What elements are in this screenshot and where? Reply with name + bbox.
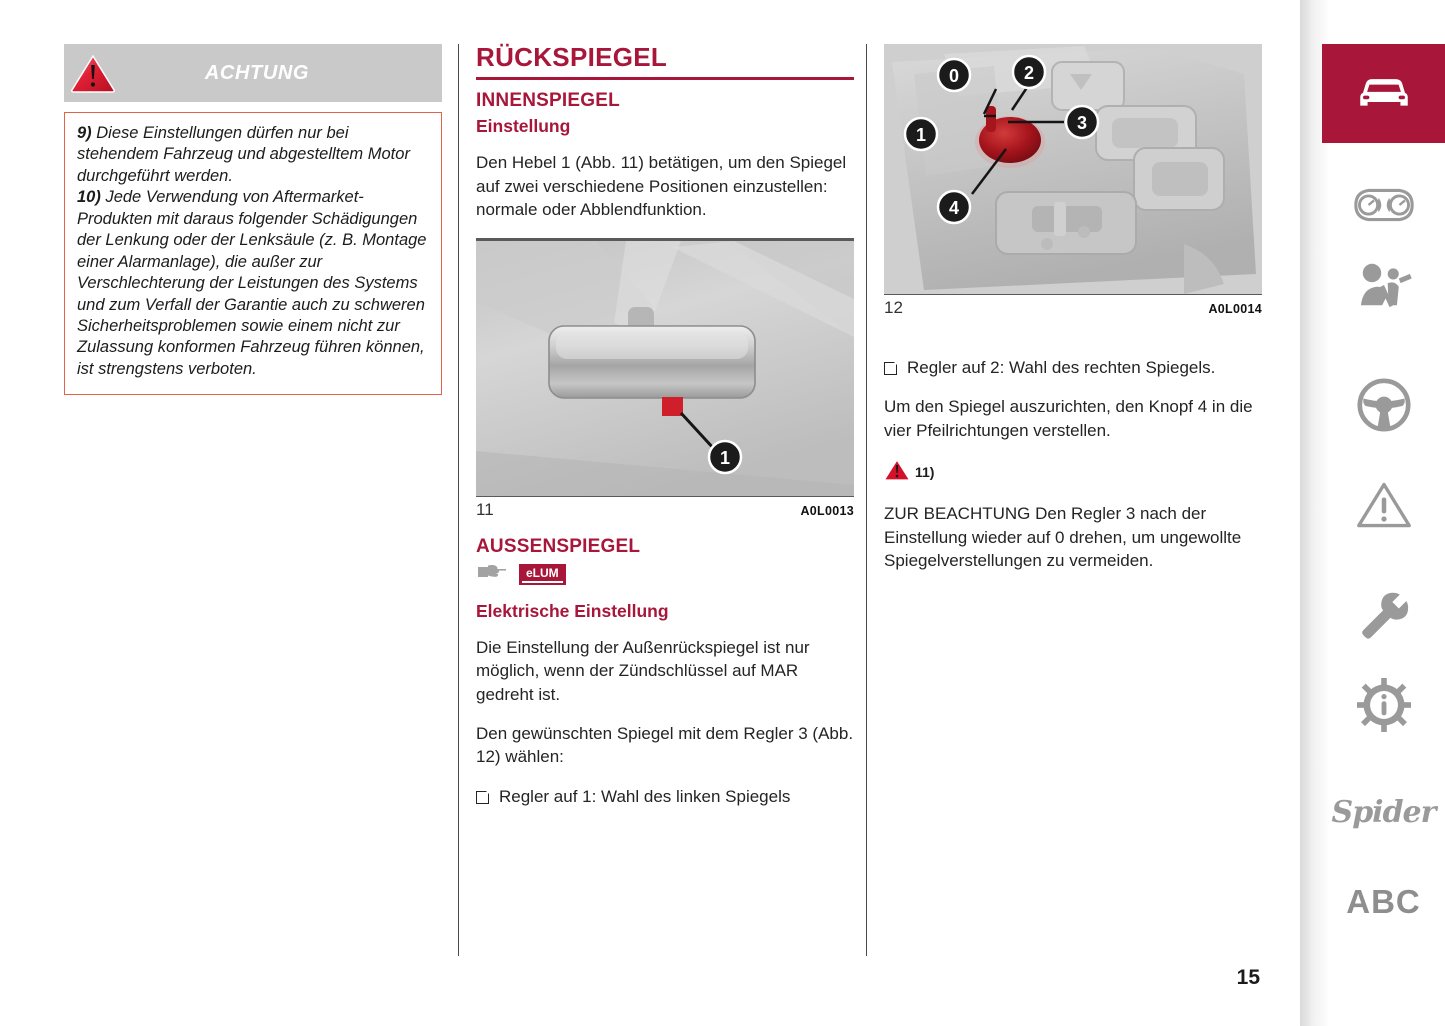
- warning-triangle-icon: [884, 458, 910, 486]
- figure-12-caption: 12 A0L0014: [884, 294, 1262, 318]
- figure-11-caption: 11 A0L0013: [476, 496, 854, 520]
- warning-reference-11: 11): [884, 458, 1262, 486]
- paragraph-regler-waehlen: Den gewünschten Spiegel mit dem Regler 3…: [476, 722, 854, 769]
- abc-index-icon: ABC: [1346, 883, 1421, 921]
- warning-triangle-icon: [70, 53, 116, 93]
- page-number: 15: [1237, 966, 1260, 990]
- figure-11: 1 11 A0L0013: [476, 238, 854, 520]
- svg-text:4: 4: [949, 198, 959, 218]
- heading-elektrische-einstellung: Elektrische Einstellung: [476, 601, 854, 622]
- pointing-hand-icon: [476, 562, 510, 587]
- section-rule: [476, 77, 854, 80]
- middle-column: RÜCKSPIEGEL INNENSPIEGEL Einstellung Den…: [476, 44, 854, 824]
- svg-text:3: 3: [1077, 113, 1087, 133]
- section-title: RÜCKSPIEGEL: [476, 44, 854, 71]
- bullet-regler-1: Regler auf 1: Wahl des linken Spiegels: [476, 785, 854, 808]
- warning-notes-box: 9) Diese Einstellungen dürfen nur bei st…: [64, 112, 442, 395]
- warning-note-9: 9) Diese Einstellungen dürfen nur bei st…: [77, 123, 429, 380]
- sidebar-item-car-front[interactable]: [1322, 44, 1445, 143]
- sidebar-item-abc-index[interactable]: ABC: [1322, 865, 1445, 939]
- paragraph-elektrische: Die Einstellung der Außenrückspiegel ist…: [476, 636, 854, 706]
- figure-12-number: 12: [884, 298, 903, 318]
- column-divider-2: [866, 44, 867, 956]
- figure-12-image: 0 2 1 3 4: [884, 44, 1262, 294]
- figure-11-number: 11: [476, 500, 494, 520]
- subsection-innenspiegel: INNENSPIEGEL: [476, 90, 854, 112]
- spider-wordmark: Spider: [1332, 795, 1436, 830]
- sidebar-item-dashboard[interactable]: [1322, 170, 1445, 244]
- sidebar-item-airbag[interactable]: [1322, 250, 1445, 324]
- svg-text:1: 1: [720, 448, 730, 468]
- chapter-sidebar: Spider ABC: [1300, 0, 1445, 1026]
- right-column: 0 2 1 3 4 12 A0L0014 Regler auf 2: Wahl …: [884, 44, 1262, 589]
- bullet-regler-1-text: Regler auf 1: Wahl des linken Spiegels: [499, 785, 790, 808]
- airbag-seatbelt-icon: [1355, 261, 1413, 314]
- car-front-icon: [1351, 70, 1417, 117]
- subsection-aussenspiegel: AUSSENSPIEGEL: [476, 536, 854, 558]
- figure-12-code: A0L0014: [1208, 302, 1262, 316]
- paragraph-zur-beachtung: ZUR BEACHTUNG Den Regler 3 nach der Eins…: [884, 502, 1262, 572]
- svg-text:0: 0: [949, 66, 959, 86]
- bullet-regler-2-text: Regler auf 2: Wahl des rechten Spiegels.: [907, 356, 1215, 379]
- sidebar-item-spider[interactable]: Spider: [1322, 775, 1445, 849]
- sidebar-item-info[interactable]: [1322, 670, 1445, 744]
- note-marker-10: 10): [77, 188, 101, 206]
- elum-reference: eLUM: [476, 562, 854, 587]
- warning-triangle-icon: [1356, 480, 1412, 535]
- paragraph-knopf-4: Um den Spiegel auszurichten, den Knopf 4…: [884, 395, 1262, 442]
- note-text-10: Jede Verwendung von Aftermarket-Produkte…: [77, 188, 426, 378]
- elum-badge: eLUM: [519, 564, 566, 585]
- sidebar-item-warning[interactable]: [1322, 470, 1445, 544]
- warning-reference-label: 11): [915, 464, 934, 480]
- steering-wheel-icon: [1357, 378, 1411, 437]
- heading-einstellung: Einstellung: [476, 116, 854, 137]
- left-column: ACHTUNG 9) Diese Einstellungen dürfen nu…: [64, 44, 442, 395]
- warning-banner-label: ACHTUNG: [116, 62, 442, 85]
- note-text-9: Diese Einstellungen dürfen nur bei stehe…: [77, 124, 410, 185]
- bullet-regler-2: Regler auf 2: Wahl des rechten Spiegels.: [884, 356, 1262, 379]
- column-divider-1: [458, 44, 459, 956]
- figure-12: 0 2 1 3 4 12 A0L0014: [884, 44, 1262, 318]
- manual-page: ACHTUNG 9) Diese Einstellungen dürfen nu…: [0, 0, 1445, 1026]
- warning-banner: ACHTUNG: [64, 44, 442, 102]
- paragraph-innenspiegel: Den Hebel 1 (Abb. 11) betätigen, um den …: [476, 151, 854, 221]
- info-gear-icon: [1357, 678, 1411, 737]
- bullet-square-icon: [476, 791, 489, 804]
- note-marker-9: 9): [77, 124, 92, 142]
- figure-11-image: 1: [476, 238, 854, 496]
- figure-11-code: A0L0013: [800, 504, 854, 518]
- sidebar-item-steering[interactable]: [1322, 370, 1445, 444]
- svg-text:2: 2: [1024, 63, 1034, 83]
- sidebar-item-service[interactable]: [1322, 580, 1445, 654]
- bullet-square-icon: [884, 362, 897, 375]
- svg-text:1: 1: [916, 125, 926, 145]
- dashboard-gauges-icon: [1350, 185, 1418, 230]
- wrench-icon: [1358, 589, 1410, 646]
